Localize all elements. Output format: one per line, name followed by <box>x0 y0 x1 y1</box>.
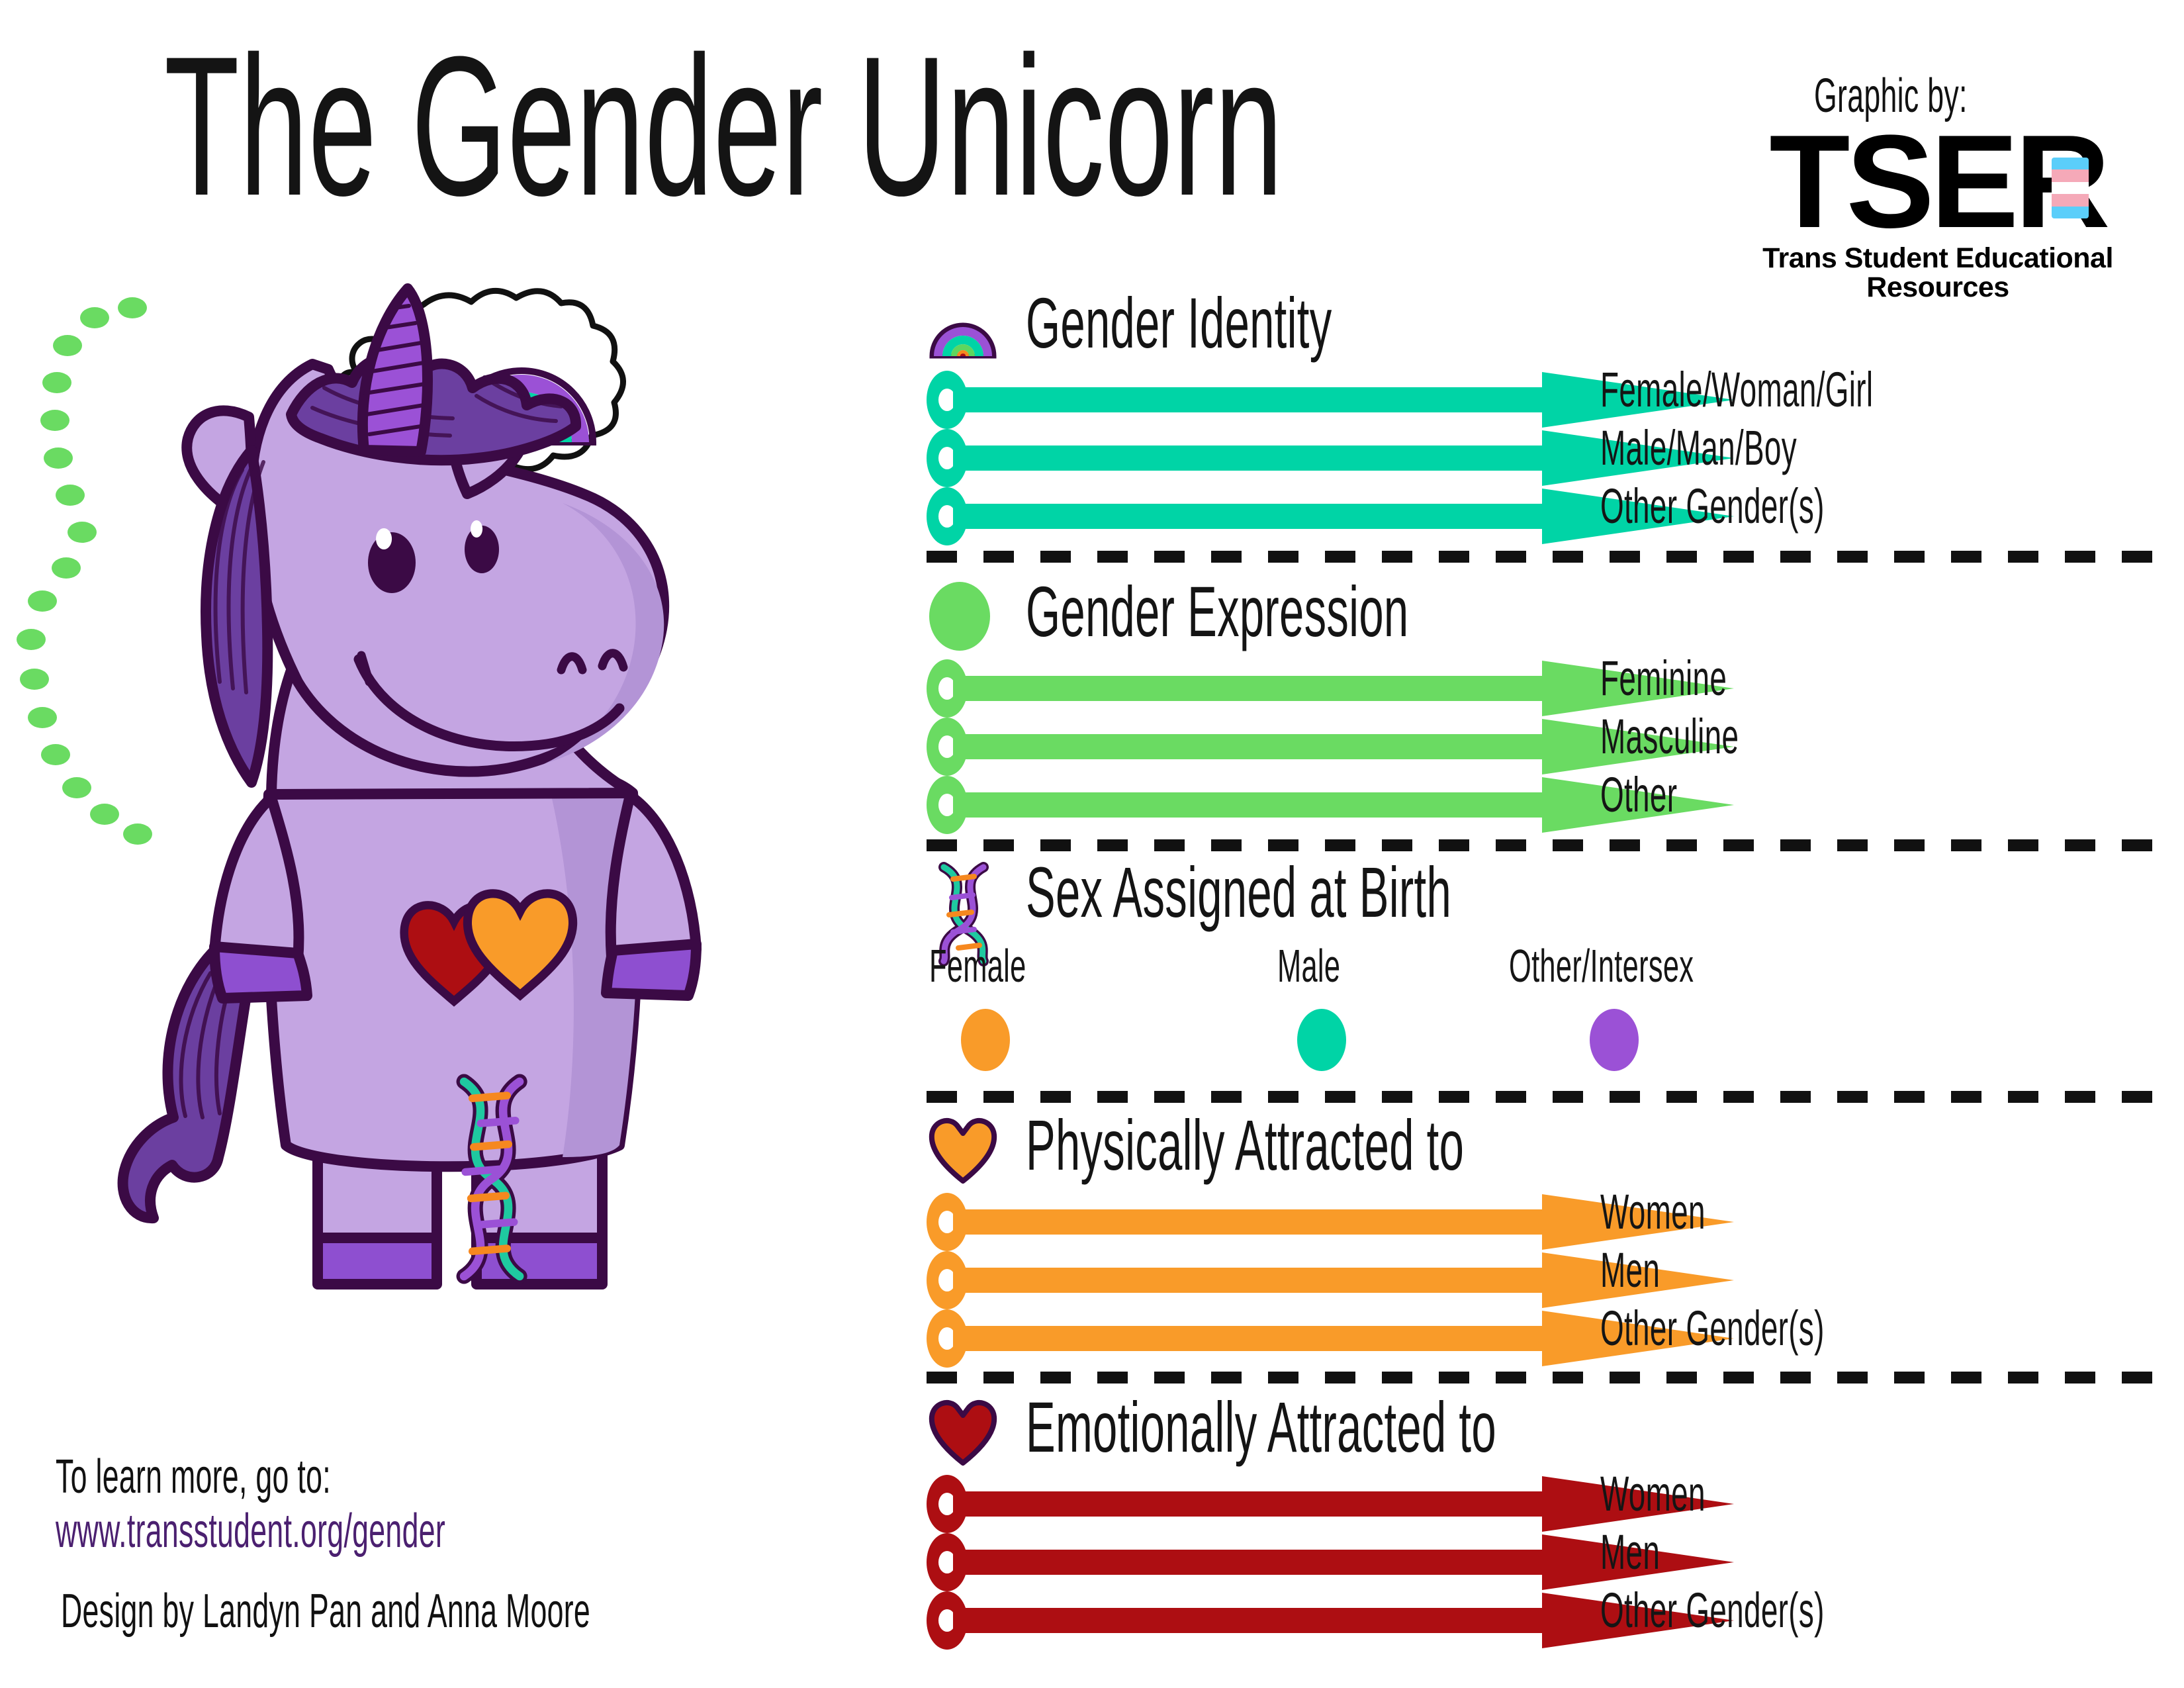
sab-dot[interactable] <box>961 1009 1010 1071</box>
tser-credit-block: Graphic by: TSER Trans Student Education… <box>1726 71 2150 302</box>
spectrum-label: Women <box>1600 1466 1706 1523</box>
spectrum-row[interactable]: Women <box>927 1193 2171 1251</box>
spectrum-bar <box>953 445 1549 471</box>
section-title: Emotionally Attracted to <box>1026 1387 1496 1467</box>
section-title: Sex Assigned at Birth <box>1026 853 1451 932</box>
spectrum-rows: Female/Woman/Girl Male/Man/Boy Other Gen… <box>927 371 2171 545</box>
spectrum-bar <box>953 1209 1549 1235</box>
spectrum-row[interactable]: Other Gender(s) <box>927 487 2171 545</box>
transstudent-url-link[interactable]: www.transstudent.org/gender <box>56 1504 445 1558</box>
spectrum-row[interactable]: Male/Man/Boy <box>927 429 2171 487</box>
spectrum-row[interactable]: Other <box>927 776 2171 834</box>
section-emotionally-attracted-to: Emotionally Attracted to Women Men Other… <box>927 1395 2171 1650</box>
spectrum-label: Feminine <box>1600 650 1727 707</box>
spectrum-rows: Feminine Masculine Other <box>927 659 2171 834</box>
spectrum-row[interactable]: Female/Woman/Girl <box>927 371 2171 429</box>
sab-label: Male <box>1277 940 1340 992</box>
spectrum-label: Other Gender(s) <box>1600 1582 1825 1639</box>
spectrum-bar <box>953 1608 1549 1633</box>
orange-heart-icon <box>927 1113 999 1186</box>
section-divider <box>927 1372 2171 1383</box>
section-gender-expression: Gender Expression Feminine Masculine Oth… <box>927 580 2171 834</box>
section-title: Gender Expression <box>1026 572 1408 651</box>
sab-dot[interactable] <box>1590 1009 1639 1071</box>
spectrum-bar <box>953 792 1549 818</box>
unicorn-character <box>123 289 696 1284</box>
arm-cuff-left <box>214 947 307 998</box>
sab-dot[interactable] <box>1297 1009 1346 1071</box>
spectrum-bar <box>953 504 1549 529</box>
leg-cuff-left <box>318 1238 437 1284</box>
spectrum-bar <box>953 1550 1549 1575</box>
trans-flag-icon <box>2052 158 2089 218</box>
spectrum-row[interactable]: Men <box>927 1251 2171 1309</box>
spectrum-bar <box>953 1491 1549 1517</box>
sab-label: Other/Intersex <box>1509 940 1694 992</box>
section-divider <box>927 1091 2171 1103</box>
section-gender-identity: Gender Identity Female/Woman/Girl Male/M… <box>927 291 2171 545</box>
spectrum-row[interactable]: Other Gender(s) <box>927 1591 2171 1650</box>
section-title: Gender Identity <box>1026 283 1332 363</box>
learn-more-block: To learn more, go to: www.transstudent.o… <box>56 1450 684 1558</box>
spectrum-bar <box>953 1326 1549 1351</box>
spectrum-label: Men <box>1600 1524 1660 1581</box>
unicorn-eye-left <box>368 532 416 593</box>
spectrum-row[interactable]: Men <box>927 1533 2171 1591</box>
spectrum-bar <box>953 1268 1549 1293</box>
arm-cuff-right <box>606 944 696 996</box>
design-credit: Design by Landyn Pan and Anna Moore <box>61 1585 590 1637</box>
spectrum-label: Women <box>1600 1184 1706 1241</box>
spectrum-label: Other Gender(s) <box>1600 478 1825 535</box>
section-title: Physically Attracted to <box>1026 1105 1464 1185</box>
page-title: The Gender Unicorn <box>164 26 1283 225</box>
red-heart-icon <box>927 1395 999 1468</box>
unicorn-illustration <box>53 285 927 1410</box>
green-circle-icon <box>927 580 999 653</box>
section-divider <box>927 839 2171 851</box>
spectrum-label: Male/Man/Boy <box>1600 420 1797 477</box>
rainbow-icon <box>927 291 999 364</box>
sab-label: Female <box>929 940 1026 992</box>
spectrum-rows: Women Men Other Gender(s) <box>927 1193 2171 1368</box>
spectrum-bar <box>953 387 1549 412</box>
spectrum-label: Masculine <box>1600 708 1739 765</box>
spectrum-label: Female/Woman/Girl <box>1600 361 1873 418</box>
unicorn-arm-right <box>611 796 696 957</box>
spectrum-row[interactable]: Masculine <box>927 718 2171 776</box>
spectrum-bar <box>953 734 1549 759</box>
green-dot-arc <box>17 297 152 845</box>
spectrum-panel: Gender Identity Female/Woman/Girl Male/M… <box>927 291 2171 1662</box>
learn-more-label: To learn more, go to: <box>56 1450 445 1504</box>
spectrum-row[interactable]: Women <box>927 1475 2171 1533</box>
spectrum-label: Other Gender(s) <box>1600 1300 1825 1357</box>
spectrum-row[interactable]: Feminine <box>927 659 2171 718</box>
spectrum-label: Other <box>1600 767 1677 823</box>
tser-logo: TSER <box>1726 122 2150 242</box>
section-divider <box>927 551 2171 563</box>
spectrum-label: Men <box>1600 1242 1660 1299</box>
sab-options: Female Male Other/Intersex <box>927 940 2171 1092</box>
section-physically-attracted-to: Physically Attracted to Women Men Other … <box>927 1113 2171 1368</box>
spectrum-row[interactable]: Other Gender(s) <box>927 1309 2171 1368</box>
spectrum-rows: Women Men Other Gender(s) <box>927 1475 2171 1650</box>
spectrum-bar <box>953 676 1549 701</box>
dna-icon <box>927 861 999 933</box>
section-sex-assigned-at-birth: Sex Assigned at Birth Female Male Other/… <box>927 861 2171 1092</box>
leg-cuff-right <box>477 1238 602 1284</box>
